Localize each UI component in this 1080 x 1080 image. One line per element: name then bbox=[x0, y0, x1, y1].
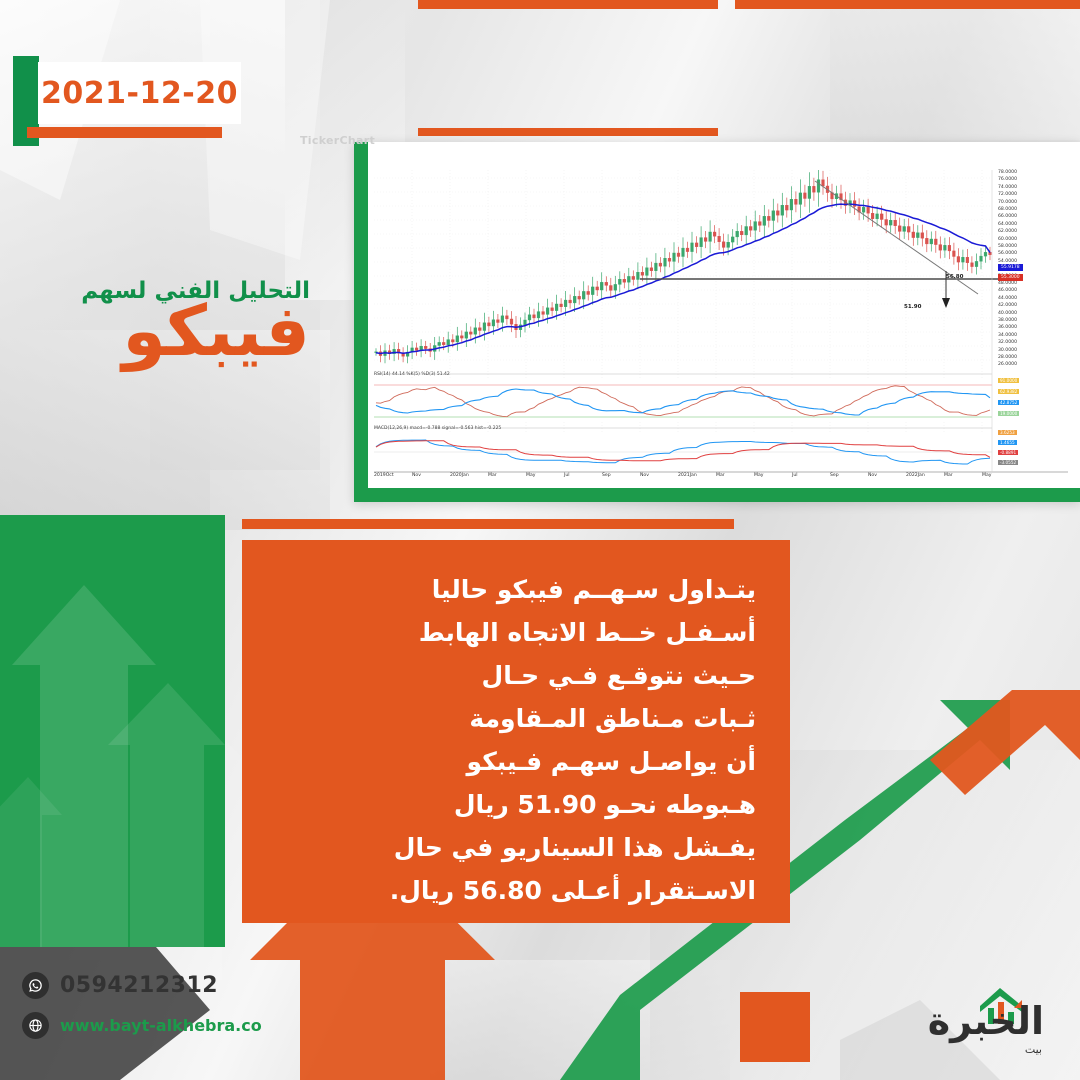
headline: التحليل الفني لسهم فيبكو bbox=[50, 278, 310, 365]
contact-website[interactable]: www.bayt-alkhebra.co bbox=[22, 1012, 262, 1039]
price-axis-tick: 70.0000 bbox=[998, 200, 1017, 205]
analysis-text-panel: يتـداول سـهــم فيبكو حاليا أسـفـل خــط ا… bbox=[242, 540, 790, 923]
analysis-line: يفـشل هذا السيناريو في حال bbox=[276, 826, 756, 869]
price-axis-tick: 60.0000 bbox=[998, 237, 1017, 242]
headline-company: فيبكو bbox=[50, 298, 310, 365]
price-axis-tick: 42.0000 bbox=[998, 303, 1017, 308]
phone-number: 0594212312 bbox=[60, 973, 218, 998]
macd-axis-tick: 1.4655 bbox=[998, 440, 1017, 445]
date-axis-tick: 2021Jan bbox=[678, 473, 697, 478]
panel-top-accent bbox=[242, 519, 734, 529]
rsi-axis-tick: 19.0000 bbox=[998, 411, 1019, 416]
price-axis-tick: 34.0000 bbox=[998, 333, 1017, 338]
price-axis-tick: 62.0000 bbox=[998, 229, 1017, 234]
price-axis-tick: 32.0000 bbox=[998, 340, 1017, 345]
macd-pane-legend: MACD(12,26,9) macd=-0.788 signal=-0.563 … bbox=[374, 426, 501, 431]
price-axis-tick: 56.0000 bbox=[998, 251, 1017, 256]
date-axis-tick: Mar bbox=[716, 473, 725, 478]
price-axis-tick: 78.0000 bbox=[998, 170, 1017, 175]
date-axis-tick: 2022Jan bbox=[906, 473, 925, 478]
date-axis-tick: May bbox=[982, 473, 992, 478]
website-url: www.bayt-alkhebra.co bbox=[60, 1016, 262, 1035]
contact-phone[interactable]: 0594212312 bbox=[22, 972, 262, 999]
logo-subtitle: بيت bbox=[1025, 1043, 1042, 1056]
price-axis-tick: 38.0000 bbox=[998, 318, 1017, 323]
price-axis-tick: 26.0000 bbox=[998, 362, 1017, 367]
macd-axis-tick: -3.0552 bbox=[998, 460, 1018, 465]
rsi-axis-tick: 62.9382 bbox=[998, 389, 1019, 394]
top-accent-strip bbox=[418, 128, 718, 136]
globe-icon bbox=[22, 1012, 49, 1039]
price-axis-tick: 76.0000 bbox=[998, 177, 1017, 182]
date-axis-tick: Jul bbox=[792, 473, 798, 478]
analysis-line: حـيث نتوقـع فـي حـال bbox=[276, 654, 756, 697]
macd-axis: 3.62531.4655-0.8891-3.0552 bbox=[996, 430, 1068, 474]
last-price-tag: 55.3000 bbox=[998, 274, 1023, 281]
decorative-orange-square bbox=[740, 992, 810, 1062]
price-axis-tick: 28.0000 bbox=[998, 355, 1017, 360]
price-axis-tick: 44.0000 bbox=[998, 296, 1017, 301]
price-axis-tick: 64.0000 bbox=[998, 222, 1017, 227]
price-axis-tick: 40.0000 bbox=[998, 311, 1017, 316]
date-axis: 2019OctNov2020JanMarMayJulSepNov2021JanM… bbox=[374, 473, 994, 483]
price-axis-tick: 72.0000 bbox=[998, 192, 1017, 197]
target-label: 51.90 bbox=[904, 304, 921, 310]
macd-axis-tick: 3.6253 bbox=[998, 430, 1017, 435]
date-axis-tick: Nov bbox=[640, 473, 649, 478]
contact-block: 0594212312 www.bayt-alkhebra.co bbox=[22, 972, 262, 1052]
price-axis-tick: 48.0000 bbox=[998, 281, 1017, 286]
date-axis-tick: Sep bbox=[830, 473, 839, 478]
price-chart-svg[interactable] bbox=[368, 146, 1074, 484]
date-axis-tick: May bbox=[754, 473, 764, 478]
date-axis-tick: Nov bbox=[868, 473, 877, 478]
logo-name: الخبرة bbox=[928, 1002, 1044, 1040]
date-axis-tick: Nov bbox=[412, 473, 421, 478]
analysis-line: هـبوطه نحـو 51.90 ريال bbox=[276, 783, 756, 826]
date-axis-tick: 2020Jan bbox=[450, 473, 469, 478]
price-axis-tick: 58.0000 bbox=[998, 244, 1017, 249]
rsi-axis: 91.000062.938242.875219.0000 bbox=[996, 378, 1068, 424]
date-axis-tick: Mar bbox=[944, 473, 953, 478]
date-axis-tick: May bbox=[526, 473, 536, 478]
date-axis-tick: Jul bbox=[564, 473, 570, 478]
arrow-pattern-icon bbox=[0, 515, 225, 947]
price-axis-tick: 30.0000 bbox=[998, 348, 1017, 353]
green-panel-arrows bbox=[0, 515, 225, 947]
top-accent-strip bbox=[735, 0, 1080, 9]
date-axis-tick: Mar bbox=[488, 473, 497, 478]
analysis-line: الاسـتقرار أعـلى 56.80 ريال. bbox=[276, 869, 756, 912]
analysis-line: يتـداول سـهــم فيبكو حاليا bbox=[276, 568, 756, 611]
chart-left-accent bbox=[354, 142, 368, 502]
ema-price-tag: 55.9178 bbox=[998, 264, 1023, 271]
date-axis-tick: Sep bbox=[602, 473, 611, 478]
price-axis-tick: 74.0000 bbox=[998, 185, 1017, 190]
macd-axis-tick: -0.8891 bbox=[998, 450, 1018, 455]
price-axis-tick: 46.0000 bbox=[998, 288, 1017, 293]
price-axis-tick: 68.0000 bbox=[998, 207, 1017, 212]
brand-logo: الخبرة بيت bbox=[872, 978, 1052, 1058]
top-accent-strip bbox=[418, 0, 718, 9]
whatsapp-icon bbox=[22, 972, 49, 999]
analysis-line: أن يواصـل سهـم فـيبكو bbox=[276, 740, 756, 783]
date-badge: 2021-12-20 bbox=[38, 62, 241, 124]
resistance-label: 56.80 bbox=[946, 274, 963, 280]
price-axis-tick: 66.0000 bbox=[998, 214, 1017, 219]
chart-container[interactable]: فيبكو (2180) يومي 63.30 ▼ -2.86% Dec 19,… bbox=[368, 146, 1074, 484]
rsi-axis-tick: 91.0000 bbox=[998, 378, 1019, 383]
rsi-pane-legend: RSI(14) 44.14 %K(5) %D(3) 51.42 bbox=[374, 372, 450, 377]
date-axis-tick: 2019Oct bbox=[374, 473, 394, 478]
date-text: 2021-12-20 bbox=[41, 76, 238, 111]
date-underline bbox=[27, 127, 222, 138]
analysis-line: ثـبات مـناطق المـقاومة bbox=[276, 697, 756, 740]
rsi-axis-tick: 42.8752 bbox=[998, 400, 1019, 405]
chart-bottom-accent bbox=[354, 488, 1080, 502]
price-axis-tick: 36.0000 bbox=[998, 325, 1017, 330]
analysis-line: أسـفـل خــط الاتجاه الهابط bbox=[276, 611, 756, 654]
